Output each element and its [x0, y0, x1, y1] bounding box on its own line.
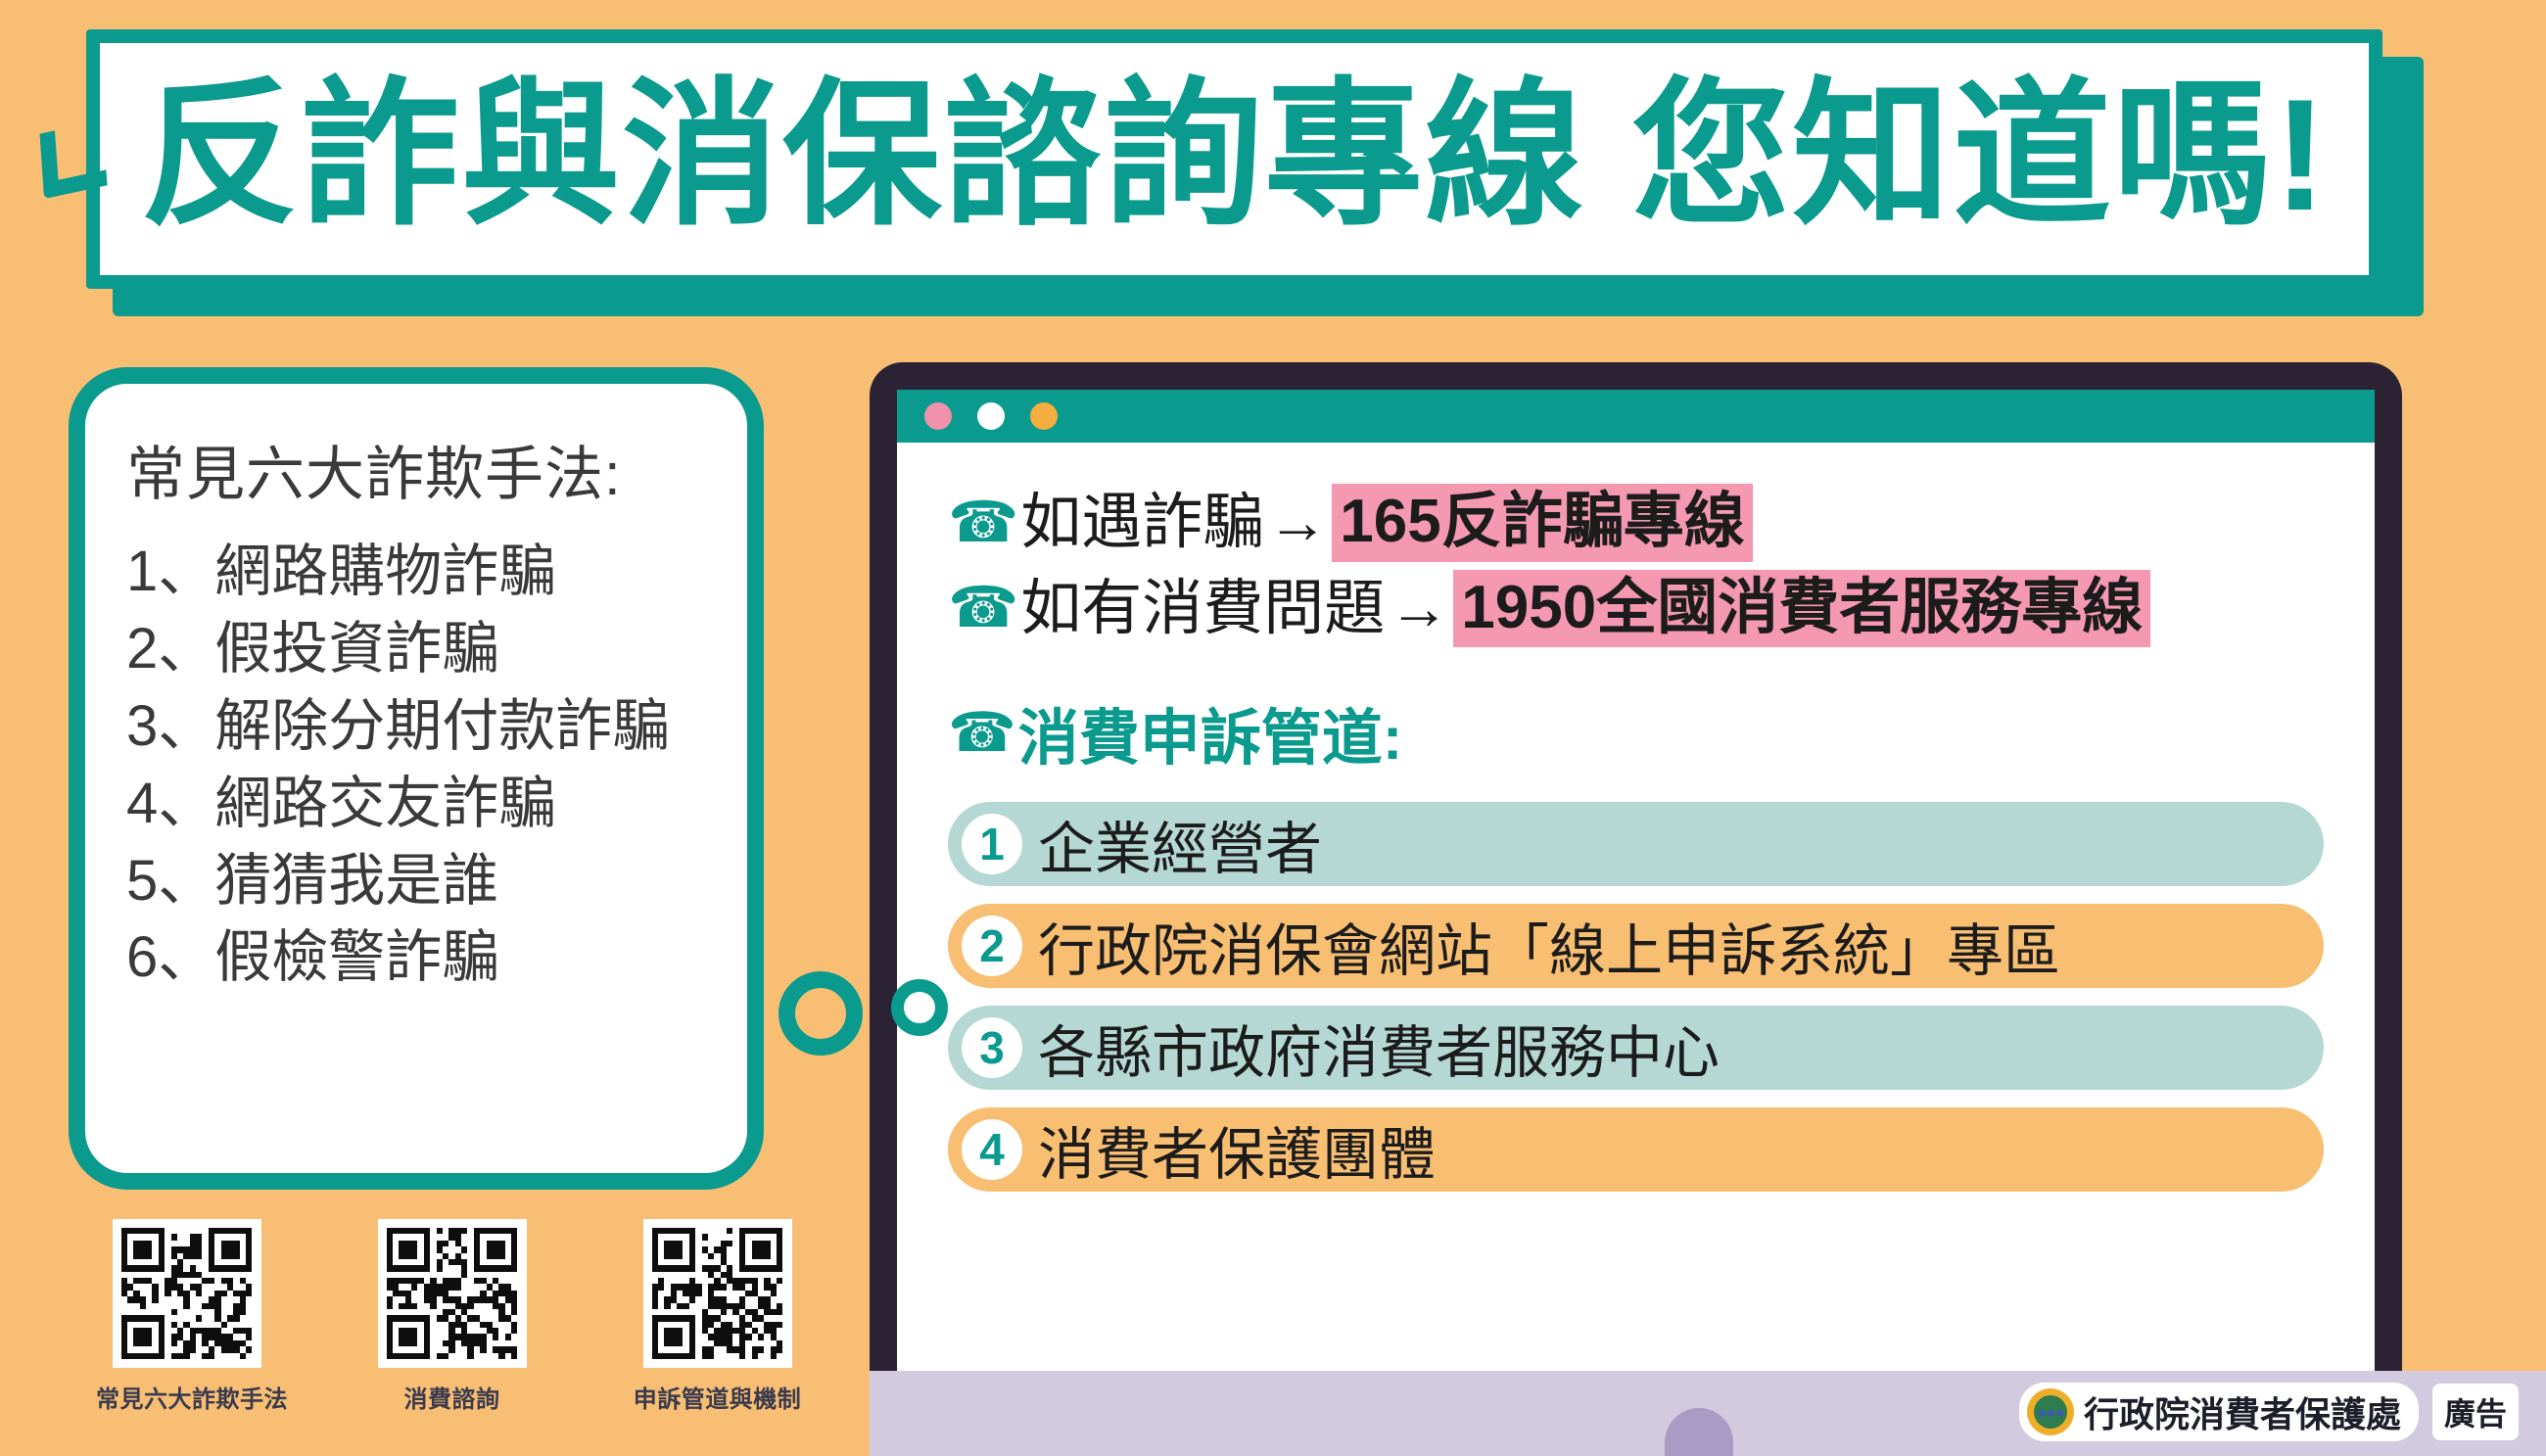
qr-caption: 常見六大詐欺手法 — [96, 1380, 277, 1414]
channel-label: 各縣市政府消費者服務中心 — [1038, 1007, 1720, 1089]
channel-item-1[interactable]: 1 企業經營者 — [948, 802, 2324, 886]
list-item: 3、解除分期付款詐騙 — [126, 688, 708, 766]
list-item: 1、網路購物詐騙 — [126, 534, 708, 611]
footer: ●●● 行政院消費者保護處 廣告 — [2019, 1383, 2519, 1441]
channel-item-4[interactable]: 4 消費者保護團體 — [948, 1107, 2324, 1192]
arrow-right-icon: → — [1385, 571, 1453, 647]
hotline-number: 165反詐騙專線 — [1332, 484, 1752, 562]
qr-code-pattern — [121, 1228, 253, 1359]
qr-code-image-2[interactable] — [378, 1219, 527, 1368]
channel-item-3[interactable]: 3 各縣市政府消費者服務中心 — [948, 1006, 2324, 1090]
organization-chip: ●●● 行政院消費者保護處 — [2019, 1383, 2419, 1441]
browser-window: ☎ 如遇詐騙 → 165反詐騙專線 ☎ 如有消費問題 → 1950全國消費者服務… — [897, 390, 2375, 1371]
hotline-label: 如有消費問題 — [1020, 571, 1385, 647]
close-dot-icon[interactable] — [924, 402, 952, 430]
qr-caption: 申訴管道與機制 — [627, 1380, 808, 1414]
qr-code-image-3[interactable] — [643, 1219, 792, 1368]
browser-title-bar — [897, 390, 2375, 443]
telephone-icon: ☎ — [948, 705, 1016, 760]
page-title: 反詐與消保諮詢專線 您知道嗎! — [140, 76, 2329, 235]
consumer-protection-emblem-icon: ●●● — [2027, 1388, 2074, 1435]
fraud-methods-heading: 常見六大詐欺手法: — [126, 427, 708, 512]
organization-name: 行政院消費者保護處 — [2084, 1386, 2401, 1437]
title-banner: 反詐與消保諮詢專線 您知道嗎! — [86, 29, 2382, 289]
qr-code-image-1[interactable] — [113, 1219, 261, 1368]
qr-caption: 消費諮詢 — [361, 1380, 542, 1414]
qr-code-item[interactable]: 消費諮詢 — [361, 1219, 542, 1414]
list-item: 4、網路交友詐騙 — [126, 766, 708, 843]
maximize-dot-icon[interactable] — [1030, 402, 1058, 430]
channels-section-title: ☎ 消費申訴管道: — [948, 688, 2324, 776]
hotline-row: ☎ 如有消費問題 → 1950全國消費者服務專線 — [948, 570, 2324, 648]
qr-code-pattern — [387, 1228, 518, 1359]
channel-label: 消費者保護團體 — [1038, 1108, 1436, 1191]
decorative-ring-large-icon — [778, 971, 863, 1056]
browser-content: ☎ 如遇詐騙 → 165反詐騙專線 ☎ 如有消費問題 → 1950全國消費者服務… — [897, 443, 2375, 1371]
arrow-right-icon: → — [1263, 485, 1332, 561]
channel-number-badge: 3 — [962, 1017, 1022, 1078]
minimize-dot-icon[interactable] — [977, 402, 1005, 430]
check-mark-icon — [39, 120, 107, 199]
channel-number-badge: 1 — [962, 814, 1022, 874]
poster-root: 反詐與消保諮詢專線 您知道嗎! 常見六大詐欺手法: 1、網路購物詐騙 2、假投資… — [0, 0, 2546, 1456]
hotline-label: 如遇詐騙 — [1020, 485, 1263, 561]
qr-code-item[interactable]: 常見六大詐欺手法 — [96, 1219, 277, 1414]
channel-label: 行政院消保會網站「線上申訴系統」專區 — [1038, 905, 2060, 987]
list-item: 2、假投資詐騙 — [126, 611, 708, 688]
qr-code-pattern — [652, 1228, 783, 1359]
channel-label: 企業經營者 — [1038, 803, 1322, 885]
channel-number-badge: 4 — [962, 1119, 1022, 1180]
qr-code-item[interactable]: 申訴管道與機制 — [627, 1219, 808, 1414]
hotline-row: ☎ 如遇詐騙 → 165反詐騙專線 — [948, 484, 2324, 562]
list-item: 5、猜猜我是誰 — [126, 843, 708, 920]
telephone-icon: ☎ — [948, 580, 1018, 636]
decorative-ring-small-icon — [891, 979, 948, 1036]
channels-title-text: 消費申訴管道: — [1018, 688, 1403, 776]
laptop-frame: ☎ 如遇詐騙 → 165反詐騙專線 ☎ 如有消費問題 → 1950全國消費者服務… — [870, 362, 2402, 1371]
channel-item-2[interactable]: 2 行政院消保會網站「線上申訴系統」專區 — [948, 904, 2324, 988]
qr-code-row: 常見六大詐欺手法 消費諮詢 申訴管道與機制 — [96, 1219, 808, 1414]
hotline-number: 1950全國消費者服務專線 — [1453, 570, 2150, 648]
telephone-icon: ☎ — [948, 494, 1018, 551]
advertisement-badge: 廣告 — [2432, 1384, 2519, 1440]
fraud-methods-card: 常見六大詐欺手法: 1、網路購物詐騙 2、假投資詐騙 3、解除分期付款詐騙 4、… — [69, 367, 764, 1190]
channel-number-badge: 2 — [962, 916, 1022, 976]
list-item: 6、假檢警詐騙 — [126, 919, 708, 997]
